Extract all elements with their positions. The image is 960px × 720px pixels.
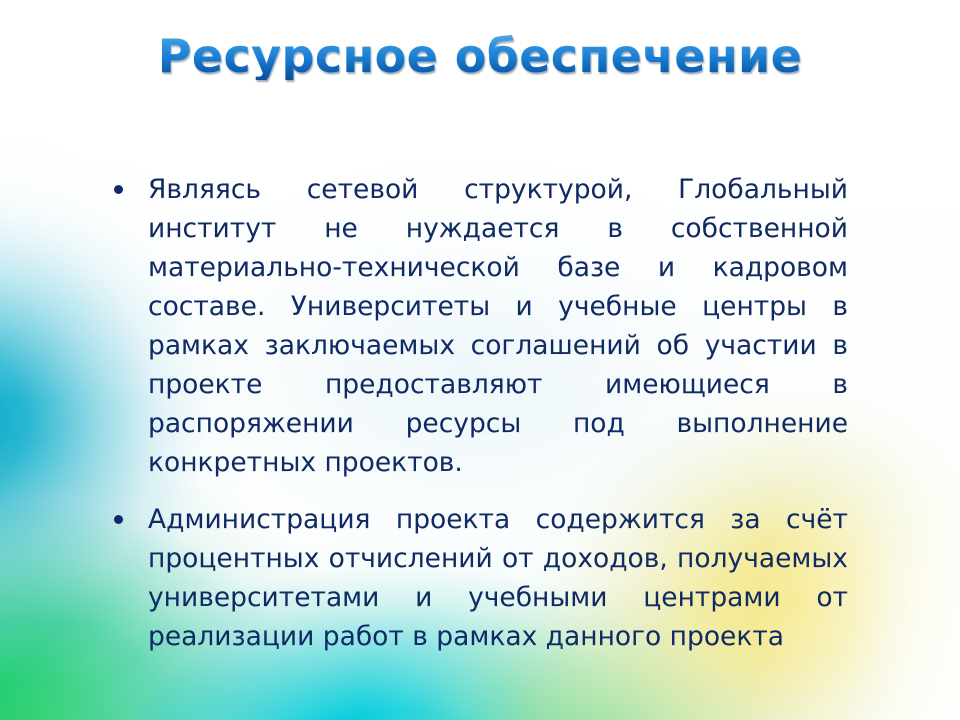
bullet-dot-icon xyxy=(114,515,123,524)
slide-title: Ресурсное обеспечение xyxy=(158,32,803,80)
slide-body-content: Являясь сетевой структурой, Глобальный и… xyxy=(106,170,848,656)
bullet-dot-icon xyxy=(114,185,123,194)
list-item: Администрация проекта содержится за счёт… xyxy=(106,500,848,656)
list-item-text: Администрация проекта содержится за счёт… xyxy=(148,500,848,656)
list-item-text: Являясь сетевой структурой, Глобальный и… xyxy=(148,170,848,482)
list-item: Являясь сетевой структурой, Глобальный и… xyxy=(106,170,848,482)
slide-title-container: Ресурсное обеспечение xyxy=(0,32,960,80)
presentation-slide: Ресурсное обеспечение Являясь сетевой ст… xyxy=(0,0,960,720)
